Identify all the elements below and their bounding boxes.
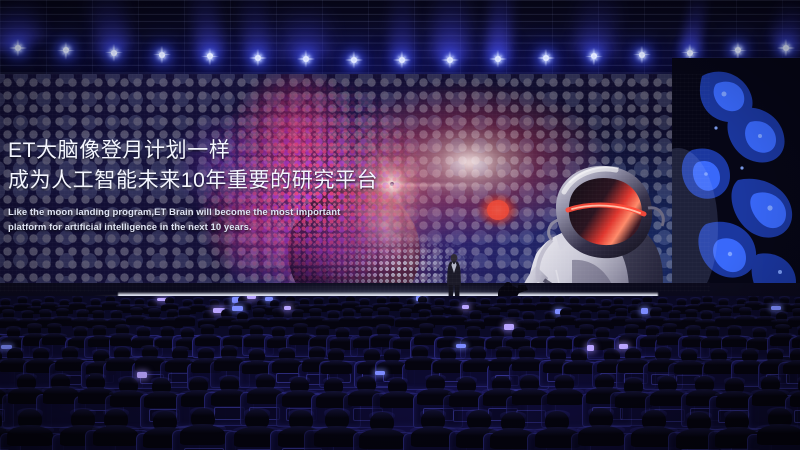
blue-spotlight bbox=[634, 47, 650, 63]
blue-spotlight bbox=[586, 48, 602, 64]
audience-member-shoulders bbox=[564, 361, 594, 374]
blue-spotlight bbox=[154, 47, 170, 63]
audience-member-shoulders bbox=[433, 359, 463, 372]
phone-screen-glow bbox=[137, 372, 147, 378]
audience-member-shoulders bbox=[180, 425, 226, 445]
blue-spotlight bbox=[106, 45, 122, 61]
astronaut-figure bbox=[452, 162, 682, 292]
blue-lit-foliage bbox=[672, 58, 800, 308]
audience-member-shoulders bbox=[519, 304, 536, 312]
audience-member-shoulders bbox=[790, 391, 800, 407]
foliage-illustration bbox=[672, 58, 800, 308]
phone-screen-glow bbox=[462, 305, 469, 309]
audience-member-shoulders bbox=[547, 389, 583, 405]
audience-member-shoulders bbox=[716, 392, 752, 408]
audience-member-shoulders bbox=[512, 358, 542, 371]
audience-member-shoulders bbox=[7, 426, 53, 446]
audience-member-shoulders bbox=[195, 335, 220, 346]
keynote-stage-photo: ET大脑像登月计划一样 成为人工智能未来10年重要的研究平台 Like the … bbox=[0, 0, 800, 450]
blue-spotlight bbox=[730, 42, 746, 58]
astronaut-illustration bbox=[452, 162, 682, 292]
phone-screen-glow bbox=[641, 308, 648, 314]
backpack-light bbox=[487, 200, 509, 220]
blue-spotlight bbox=[58, 42, 74, 58]
audience-member-shoulders bbox=[757, 425, 800, 445]
phone-screen-glow bbox=[771, 306, 781, 311]
speaker-silhouette bbox=[443, 253, 465, 298]
blue-spotlight bbox=[778, 40, 794, 56]
audience-member-shoulders bbox=[578, 426, 624, 446]
audience-member-shoulders bbox=[722, 336, 747, 347]
audience-member-shoulders bbox=[674, 361, 704, 374]
audience-member-shoulders bbox=[555, 316, 576, 326]
blue-spotlight bbox=[394, 52, 410, 68]
keynote-speaker bbox=[443, 253, 465, 298]
blue-spotlight bbox=[490, 51, 506, 67]
headline-line-2: 成为人工智能未来10年重要的研究平台 bbox=[8, 166, 438, 196]
subtitle-line-1: Like the moon landing program,ET Brain w… bbox=[8, 205, 356, 220]
seated-audience bbox=[0, 296, 800, 450]
audience-member-shoulders bbox=[93, 426, 139, 446]
audience-member-shoulders bbox=[548, 337, 573, 348]
audience-member-shoulders bbox=[752, 390, 788, 406]
headline-line-1: ET大脑像登月计划一样 bbox=[8, 136, 438, 166]
phone-screen-glow bbox=[456, 344, 467, 349]
audience-member-shoulders bbox=[380, 392, 416, 408]
audience-member-shoulders bbox=[42, 334, 67, 345]
seat-placard bbox=[794, 410, 800, 423]
screen-text-block: ET大脑像登月计划一样 成为人工智能未来10年重要的研究平台 Like the … bbox=[8, 136, 438, 235]
phone-screen-glow bbox=[247, 296, 256, 299]
blue-spotlight bbox=[538, 50, 554, 66]
audience-member-shoulders bbox=[175, 316, 196, 326]
audience-member-shoulders bbox=[359, 429, 405, 449]
blue-spotlight bbox=[442, 52, 458, 68]
audience-member-shoulders bbox=[704, 360, 734, 373]
audience-member-shoulders bbox=[144, 392, 180, 408]
phone-screen-glow bbox=[375, 371, 385, 375]
phone-screen-glow bbox=[284, 306, 291, 310]
blue-spotlight bbox=[10, 40, 26, 56]
audience-member-shoulders bbox=[321, 361, 351, 374]
blue-spotlight bbox=[250, 50, 266, 66]
blue-spotlight bbox=[202, 48, 218, 64]
audience-member-shoulders bbox=[783, 361, 800, 374]
phone-screen-glow bbox=[587, 345, 595, 351]
led-screen: ET大脑像登月计划一样 成为人工智能未来10年重要的研究平台 Like the … bbox=[0, 74, 710, 292]
audience-member-shoulders bbox=[792, 336, 800, 347]
blue-spotlight bbox=[298, 51, 314, 67]
subtitle-line-2: platform for artificial intelligence in … bbox=[8, 220, 356, 235]
blue-spotlight bbox=[346, 52, 362, 68]
